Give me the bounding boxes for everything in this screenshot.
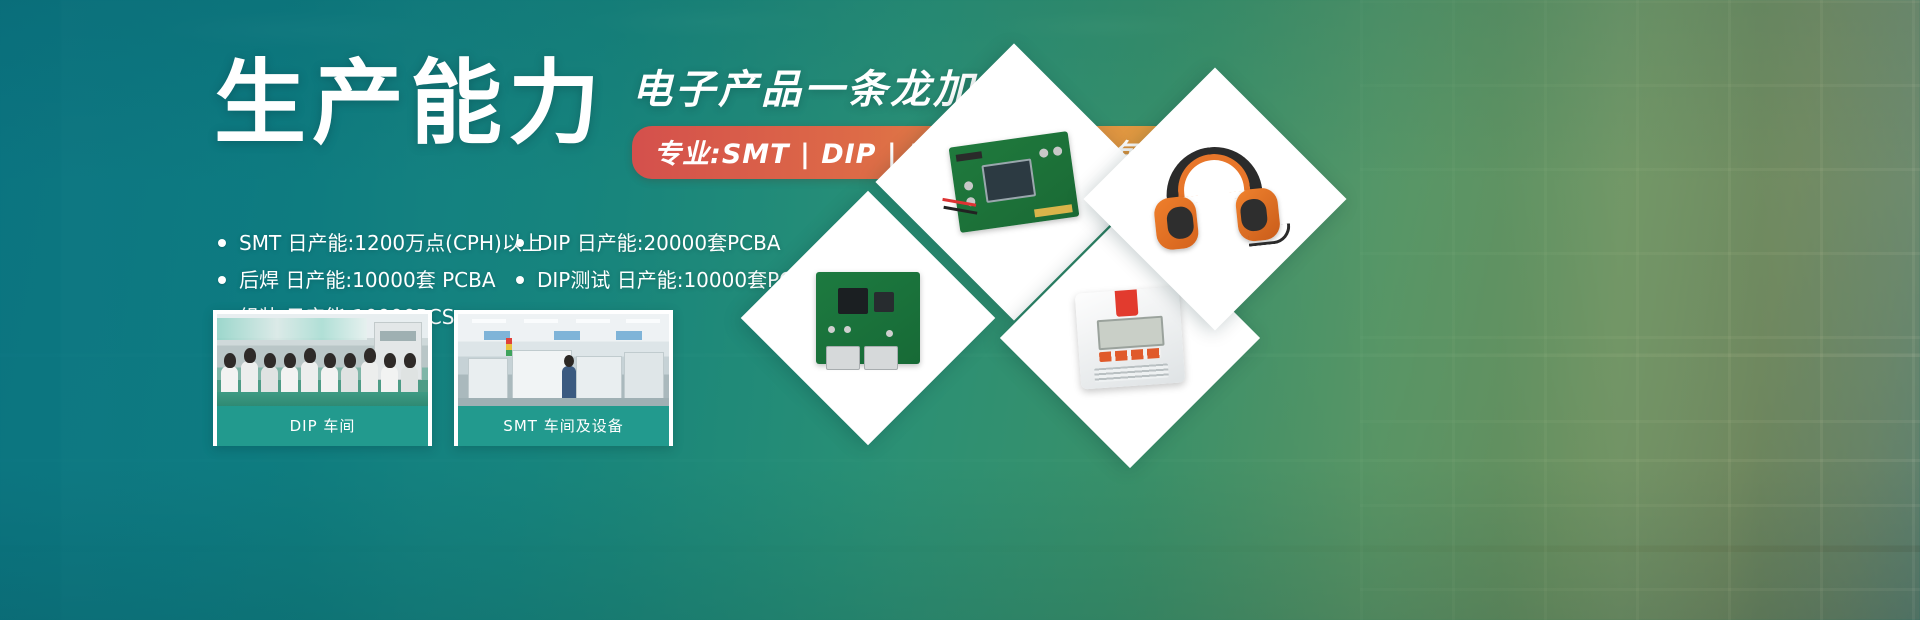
bullet-dot-icon bbox=[516, 239, 524, 247]
card-caption: SMT 车间及设备 bbox=[458, 406, 669, 446]
orange-headphones-icon bbox=[1148, 139, 1283, 259]
pcb-network-board-icon bbox=[816, 272, 920, 364]
photo-decor-equipment bbox=[468, 358, 508, 400]
photo-decor-equipment bbox=[576, 356, 622, 400]
page-title: 生产能力 bbox=[214, 58, 606, 150]
card-caption: DIP 车间 bbox=[217, 406, 428, 446]
dip-workshop-photo bbox=[217, 314, 428, 406]
workshop-photo-cards: DIP 车间 SMT 车间及设备 bbox=[213, 310, 673, 446]
solar-charge-controller-icon bbox=[1075, 286, 1185, 389]
bullet-dot-icon bbox=[218, 276, 226, 284]
banner-content: 生产能力 电子产品一条龙加工 专业:SMT | DIP | PCBA | 组装 … bbox=[0, 0, 1920, 620]
product-diamond-headphones[interactable] bbox=[1083, 67, 1346, 330]
photo-decor-signal-tower bbox=[506, 338, 512, 356]
photo-decor-floor bbox=[458, 398, 669, 406]
list-item: SMT 日产能:1200万点(CPH)以上 bbox=[218, 232, 516, 254]
spec-text: DIP 日产能:20000套PCBA bbox=[537, 232, 781, 254]
product-diamond-gallery bbox=[770, 60, 1410, 560]
bullet-dot-icon bbox=[218, 239, 226, 247]
list-item: 后焊 日产能:10000套 PCBA bbox=[218, 269, 516, 291]
pcb-display-board-icon bbox=[949, 131, 1080, 233]
photo-decor-hood bbox=[217, 318, 367, 340]
photo-card-dip[interactable]: DIP 车间 bbox=[213, 310, 432, 446]
spec-text: SMT 日产能:1200万点(CPH)以上 bbox=[239, 232, 542, 254]
photo-card-smt[interactable]: SMT 车间及设备 bbox=[454, 310, 673, 446]
bullet-dot-icon bbox=[516, 276, 524, 284]
photo-decor-equipment bbox=[624, 352, 664, 400]
photo-decor-floor bbox=[217, 392, 428, 406]
product-diamond-pcb-network[interactable] bbox=[741, 191, 996, 446]
spec-text: 后焊 日产能:10000套 PCBA bbox=[239, 269, 496, 291]
production-capability-banner: 生产能力 电子产品一条龙加工 专业:SMT | DIP | PCBA | 组装 … bbox=[0, 0, 1920, 620]
photo-decor-worker bbox=[562, 366, 576, 398]
smt-workshop-photo bbox=[458, 314, 669, 406]
